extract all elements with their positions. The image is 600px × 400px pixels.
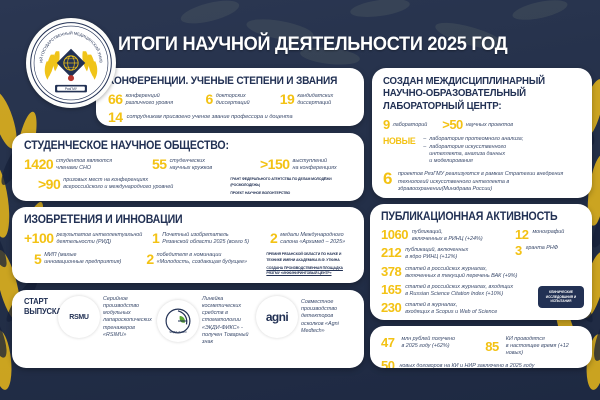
grant-note-line-1: ГРАНТ ФЕДЕРАЛЬНОГО АГЕНТСТВА ПО ДЕЛАМ МО… [230, 177, 354, 188]
stat-doctoral-dissertations: 6 докторских диссертаций [205, 93, 279, 107]
list-item: интеллекта, анализа данных [423, 151, 523, 158]
university-emblem: РЯЗАНСКИЙ ГОСУДАРСТВЕННЫЙ МЕДИЦИНСКИЙ УН… [26, 18, 116, 108]
clinical-new-contracts: 50 новых договоров на КИ и НИР заключено… [381, 360, 584, 368]
page-title: ИТОГИ НАУЧНОЙ ДЕЯТЕЛЬНОСТИ 2025 ГОД [118, 33, 507, 56]
stat-label: КИ проводятся в настоящее время (+12 нов… [506, 336, 584, 357]
rsmu-logo-text: RSMU [69, 314, 88, 321]
production-item-text: Серийное производство модульных лапароск… [103, 296, 155, 339]
stat-value: 5 [34, 253, 41, 266]
card-lab-centre: СОЗДАН МЕЖДИСЦИПЛИНАРНЫЙ НАУЧНО-ОБРАЗОВА… [372, 68, 592, 198]
list-item: лаборатория протеомного анализа; [423, 136, 523, 143]
stat-sno-members: 1420 студентов являются членами СНО [24, 158, 152, 172]
inventions-stats-row-2: 5 МИП (малые инновационные предприятия) … [24, 252, 354, 276]
card-publications: ПУБЛИКАЦИОННАЯ АКТИВНОСТЬ 1060 публикаци… [370, 204, 592, 320]
grant-note-line-2: ПРОЕКТ НАУЧНОЕ ВОЛОНТЕРСТВО [230, 191, 354, 196]
stat-label: научных проектов [466, 122, 513, 129]
stat-rnf-grants: 3 гранта РНФ [515, 245, 564, 257]
stat-value: >90 [38, 178, 60, 191]
stat-value: 50 [381, 360, 394, 368]
stat-value: 1 [152, 232, 159, 245]
status-badge-clinical-trials: КЛИНИЧЕСКИЕ ИССЛЕДОВАНИЯ И ИСПЫТАНИЯ [538, 286, 584, 308]
stat-label: статей в журналах, входящих в Scopus и W… [405, 302, 525, 316]
lab-centre-new-labs: НОВЫЕ лаборатория протеомного анализа; л… [383, 136, 582, 165]
stat-value: 2 [146, 253, 153, 266]
stat-value: 85 [485, 341, 498, 353]
conferences-title: КОНФЕРЕНЦИИ. УЧЕНЫЕ СТЕПЕНИ И ЗВАНИЯ [108, 75, 334, 87]
stat-value: +100 [24, 232, 54, 245]
stat-monographs: 12 монографий [515, 229, 564, 241]
card-start-production: СТАРТ ВЫПУСКА RSMU Серийное производство… [12, 290, 364, 368]
lab-centre-stats-row: 9 лабораторий >50 научных проектов [383, 119, 582, 131]
stat-small-enterprises: 5 МИП (малые инновационные предприятия) [34, 252, 146, 266]
stat-label: докторских диссертаций [216, 93, 250, 107]
stat-value: 1060 [381, 229, 408, 241]
student-stats-row: 1420 студентов являются членами СНО 55 с… [24, 158, 354, 172]
stat-label: Почетный изобретатель Рязанской области … [162, 232, 249, 246]
stat-archimedes-medals: 2 медали Международного салона «Архимед … [270, 232, 345, 246]
stat-label: победителя в номинации «Молодость, созда… [157, 252, 247, 266]
stat-value: 6 [383, 171, 392, 187]
agni-logo-text: agni [266, 310, 288, 324]
stat-label: выступлений на конференциях [293, 158, 337, 172]
production-item-agni: agni Совместное производство детекторов … [256, 296, 353, 338]
stat-label: новых договоров на КИ и НИР заключено в … [399, 363, 534, 368]
rsmu-logo-icon: RSMU [58, 296, 100, 338]
stat-label: статей в российских журналах, входящих в… [405, 284, 513, 298]
stat-label: студентов являются членами СНО [56, 158, 112, 172]
infographic-poster: РЯЗАНСКИЙ ГОСУДАРСТВЕННЫЙ МЕДИЦИНСКИЙ УН… [0, 0, 600, 400]
stat-value: 9 [383, 119, 390, 131]
list-item: и моделирования [423, 158, 523, 165]
stat-value: 55 [152, 158, 167, 171]
stat-label: статей в российских журналах, включенных… [405, 266, 517, 280]
card-student-society: СТУДЕНЧЕСКОЕ НАУЧНОЕ ОБЩЕСТВО: 1420 студ… [12, 133, 364, 201]
svg-text:ЭКДИ-ФИКС: ЭКДИ-ФИКС [169, 330, 187, 334]
student-prizes-row: >90 призовых мест на конференциях всерос… [24, 177, 354, 196]
stat-value: >50 [442, 119, 463, 131]
agni-logo-icon: agni [256, 296, 298, 338]
stat-conference-talks: >150 выступлений на конференциях [260, 158, 337, 172]
stat-label: лабораторий [393, 122, 428, 129]
inventions-note-1: ПРЕМИЯ РЯЗАНСКОЙ ОБЛАСТИ ПО НАУКЕ И ТЕХН… [266, 252, 354, 263]
grant-note: ГРАНТ ФЕДЕРАЛЬНОГО АГЕНТСТВА ПО ДЕЛАМ МО… [230, 177, 354, 196]
stat-candidate-dissertations: 19 кандидатских диссертаций [280, 93, 354, 107]
new-labs-list: лаборатория протеомного анализа; лаборат… [423, 136, 523, 165]
production-items: RSMU Серийное производство модульных лап… [58, 296, 358, 346]
stat-label: гранта РНФ [526, 245, 558, 252]
student-society-title: СТУДЕНЧЕСКОЕ НАУЧНОЕ ОБЩЕСТВО: [24, 140, 328, 152]
stat-value: 1420 [24, 158, 53, 171]
stat-label: призовых мест на конференциях всероссийс… [63, 177, 173, 191]
stat-label: медали Международного салона «Архимед – … [280, 232, 345, 246]
svg-text:РязГМУ: РязГМУ [65, 87, 78, 91]
stat-conferences-count: 66 конференций различного уровня [108, 93, 205, 107]
stat-value: >150 [260, 158, 290, 171]
stat-value: 378 [381, 266, 401, 278]
stat-value: 212 [381, 247, 401, 259]
stat-value: 6 [205, 93, 212, 106]
publications-title: ПУБЛИКАЦИОННАЯ АКТИВНОСТЬ [381, 211, 568, 223]
card-inventions: ИЗОБРЕТЕНИЯ И ИННОВАЦИИ +100 результатов… [12, 207, 364, 283]
stat-label: публикаций, включенных в ядро РИНЦ (+12%… [405, 247, 468, 261]
lab-centre-title: СОЗДАН МЕЖДИСЦИПЛИНАРНЫЙ НАУЧНО-ОБРАЗОВА… [383, 75, 566, 112]
stat-label: МИП (малые инновационные предприятия) [44, 252, 121, 266]
conferences-titles-awarded: 14 сотрудникам присвоено ученое звание п… [108, 111, 354, 124]
stat-value: 165 [381, 284, 401, 296]
stat-ongoing-trials: 85 КИ проводятся в настоящее время (+12 … [485, 336, 584, 357]
card-clinical-trials: 47 млн рублей получено в 2025 году (+62%… [370, 326, 592, 368]
production-item-text: Совместное производство детекторов оскол… [301, 299, 353, 335]
stat-value: 12 [515, 229, 528, 241]
inventions-notes: ПРЕМИЯ РЯЗАНСКОЙ ОБЛАСТИ ПО НАУКЕ И ТЕХН… [266, 252, 354, 276]
stat-funds-received: 47 млн рублей получено в 2025 году (+62%… [381, 336, 485, 350]
stat-value: 3 [515, 245, 522, 257]
card-conferences: КОНФЕРЕНЦИИ. УЧЕНЫЕ СТЕПЕНИ И ЗВАНИЯ 66 … [96, 68, 364, 126]
stat-prize-places: >90 призовых мест на конференциях всерос… [38, 177, 230, 191]
stat-value: 19 [280, 93, 295, 106]
clinical-stats-row: 47 млн рублей получено в 2025 году (+62%… [381, 336, 584, 357]
stat-label: кандидатских диссертаций [297, 93, 333, 107]
inventions-stats-row-1: +100 результатов интеллектуальной деятел… [24, 232, 354, 246]
stat-label: млн рублей получено в 2025 году (+62%) [401, 336, 455, 350]
ekdifix-logo-graphic: ЭКДИ-ФИКС [161, 304, 195, 338]
stat-research-projects: >50 научных проектов [442, 119, 513, 131]
stat-rinc-publications: 1060 публикаций, включенных в РИНЦ (+24%… [381, 229, 511, 243]
stat-vak-articles: 378 статей в российских журналах, включе… [381, 266, 584, 280]
conferences-stats-row: 66 конференций различного уровня 6 докто… [108, 93, 354, 107]
inventions-note-2: СОЗДАНА ПРОИЗВОДСТВЕННАЯ ПЛОЩАДКА РЯЗГМУ… [266, 266, 354, 277]
emblem-graphic: РЯЗАНСКИЙ ГОСУДАРСТВЕННЫЙ МЕДИЦИНСКИЙ УН… [29, 21, 113, 105]
lab-centre-ai-projects: 6 проектов РязГМУ реализуются в рамках С… [383, 171, 582, 192]
stat-rinc-core-publications: 212 публикаций, включенных в ядро РИНЦ (… [381, 247, 511, 261]
stat-label: студенческих научных кружков [170, 158, 213, 172]
stat-label: сотрудникам присвоено ученое звание проф… [127, 114, 293, 121]
stat-value: 47 [381, 337, 394, 349]
stat-value: 2 [270, 232, 277, 245]
stat-label: монографий [532, 229, 564, 236]
stat-intellectual-property: +100 результатов интеллектуальной деятел… [24, 232, 152, 246]
stat-nomination-winners: 2 победителя в номинации «Молодость, соз… [146, 252, 266, 266]
new-label: НОВЫЕ [383, 136, 415, 147]
stat-label: публикаций, включенных в РИНЦ (+24%) [412, 229, 483, 243]
stat-label: конференций различного уровня [126, 93, 174, 107]
stat-label: результатов интеллектуальной деятельност… [57, 232, 143, 246]
stat-label: проектов РязГМУ реализуются в рамках Стр… [398, 171, 582, 192]
production-item-ekdifix: ЭКДИ-ФИКС Линейка косметических средств … [157, 296, 254, 346]
stat-value: 14 [108, 111, 123, 124]
ekdifix-logo-icon: ЭКДИ-ФИКС [157, 300, 199, 342]
stat-value: 230 [381, 302, 401, 314]
stat-laboratories: 9 лабораторий [383, 119, 427, 131]
inventions-title: ИЗОБРЕТЕНИЯ И ИННОВАЦИИ [24, 214, 328, 226]
list-item: лаборатория искусственного [423, 144, 523, 151]
production-item-rsmu: RSMU Серийное производство модульных лап… [58, 296, 155, 339]
production-item-text: Линейка косметических средств в стоматол… [202, 296, 254, 346]
stat-honorary-inventor: 1 Почетный изобретатель Рязанской област… [152, 232, 270, 246]
stat-science-clubs: 55 студенческих научных кружков [152, 158, 260, 172]
